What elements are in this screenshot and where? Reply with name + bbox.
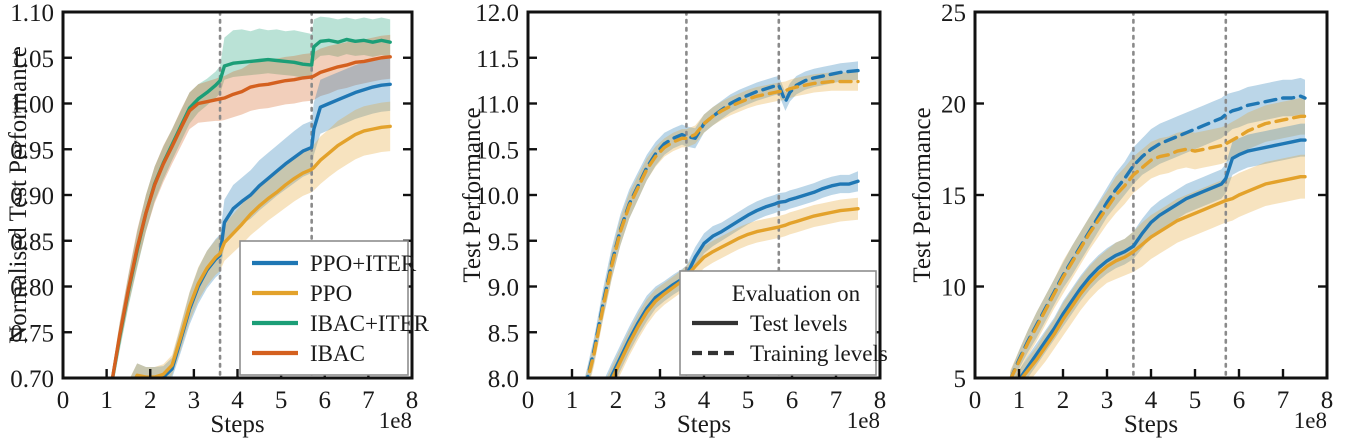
legend-label-ppo-iter: PPO+ITER	[310, 251, 417, 276]
confidence-band-ppo-test	[1010, 155, 1305, 402]
x-tick-label: 3	[188, 387, 201, 414]
y-tick-label: 8.5	[488, 320, 519, 347]
x-tick-label: 0	[522, 387, 535, 414]
y-axis-title: Normalised Test Performance	[5, 46, 32, 344]
x-axis-exponent-label: 1e8	[1294, 408, 1327, 433]
x-tick-label: 6	[1233, 387, 1246, 414]
legend-2: Evaluation onTest levelsTraining levels	[680, 271, 888, 375]
y-tick-label: 12.0	[475, 0, 519, 27]
y-axis-title: Test Performance	[909, 107, 936, 282]
x-tick-label: 7	[830, 387, 843, 414]
y-tick-label: 8.0	[488, 366, 519, 393]
y-axis-title: Test Performance	[459, 107, 486, 282]
figure-container: 0123456780.700.750.800.850.900.951.001.0…	[0, 0, 1354, 443]
x-axis-title: Steps	[1124, 411, 1178, 438]
y-tick-label: 9.0	[488, 275, 519, 302]
x-tick-label: 7	[1277, 387, 1290, 414]
x-tick-label: 2	[144, 387, 157, 414]
y-tick-label: 20	[941, 92, 966, 119]
x-tick-label: 3	[1101, 387, 1114, 414]
x-tick-label: 6	[319, 387, 332, 414]
x-axis-exponent-label: 1e8	[847, 408, 880, 433]
y-tick-label: 10	[941, 275, 966, 302]
legend-label-training-levels: Training levels	[750, 341, 888, 366]
x-axis-exponent-label: 1e8	[379, 408, 412, 433]
legend-label-ibac-iter: IBAC+ITER	[310, 311, 430, 336]
x-tick-label: 5	[275, 387, 288, 414]
chart-panel-1: 0123456780.700.750.800.850.900.951.001.0…	[0, 0, 450, 443]
x-tick-label: 4	[231, 387, 244, 414]
x-tick-label: 6	[786, 387, 799, 414]
legend-label-ppo: PPO	[310, 281, 352, 306]
chart-svg-1: 0123456780.700.750.800.850.900.951.001.0…	[0, 0, 450, 443]
y-tick-label: 9.5	[488, 229, 519, 256]
x-axis-title: Steps	[210, 411, 264, 438]
x-tick-label: 1	[1013, 387, 1026, 414]
chart-svg-2: 0123456788.08.59.09.510.010.511.011.512.…	[450, 0, 900, 443]
chart-panel-2: 0123456788.08.59.09.510.010.511.011.512.…	[450, 0, 900, 443]
x-tick-label: 3	[654, 387, 667, 414]
x-tick-label: 5	[742, 387, 755, 414]
y-tick-label: 11.5	[476, 46, 519, 73]
x-tick-label: 2	[610, 387, 623, 414]
x-tick-label: 1	[100, 387, 113, 414]
x-tick-label: 7	[362, 387, 375, 414]
legend-title: Evaluation on	[732, 281, 861, 306]
chart-panel-3: 012345678510152025Steps1e8Test Performan…	[900, 0, 1354, 443]
x-tick-label: 4	[1145, 387, 1158, 414]
x-tick-label: 0	[57, 387, 70, 414]
chart-svg-3: 012345678510152025Steps1e8Test Performan…	[900, 0, 1354, 443]
y-tick-label: 1.10	[10, 0, 54, 27]
y-tick-label: 25	[941, 0, 966, 27]
legend-label-test-levels: Test levels	[750, 311, 847, 336]
x-tick-label: 4	[698, 387, 711, 414]
x-tick-label: 5	[1189, 387, 1202, 414]
y-tick-label: 15	[941, 183, 966, 210]
x-tick-label: 1	[566, 387, 579, 414]
x-tick-label: 0	[969, 387, 982, 414]
x-axis-title: Steps	[677, 411, 731, 438]
legend-label-ibac: IBAC	[310, 341, 365, 366]
x-tick-label: 2	[1057, 387, 1070, 414]
legend-1: PPO+ITERPPOIBAC+ITERIBAC	[240, 241, 430, 375]
plot-area	[1010, 12, 1305, 402]
y-tick-label: 0.70	[10, 366, 54, 393]
y-tick-label: 5	[954, 366, 967, 393]
